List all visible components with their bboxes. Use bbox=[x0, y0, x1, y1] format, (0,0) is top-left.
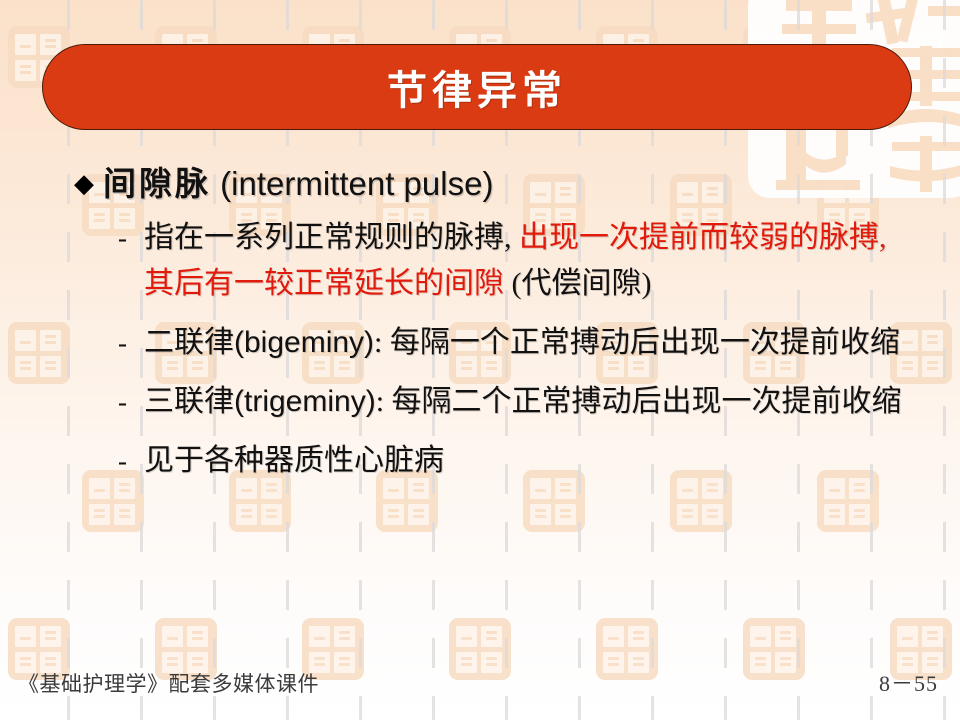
slide-content: ◆ 间隙脉 (intermittent pulse) -指在一系列正常规则的脉搏… bbox=[0, 160, 960, 497]
main-bullet: ◆ 间隙脉 (intermittent pulse) bbox=[0, 160, 960, 209]
sub-bullet-2: -二联律(bigeminy): 每隔一个正常搏动后出现一次提前收缩 bbox=[0, 320, 960, 366]
dash-bullet-icon: - bbox=[118, 215, 144, 261]
sub-bullet-text: 指在一系列正常规则的脉搏, 出现一次提前而较弱的脉搏, 其后有一较正常延长的间隙… bbox=[144, 215, 908, 307]
page-title: 节律异常 bbox=[387, 58, 567, 116]
main-bullet-en: (intermittent pulse) bbox=[211, 165, 493, 202]
slide-root: 节律异常 ◆ 间隙脉 (intermittent pulse) -指在一系列正常… bbox=[0, 0, 960, 720]
sub-bullet-text: 三联律(trigeminy): 每隔二个正常搏动后出现一次提前收缩 bbox=[144, 379, 902, 425]
main-bullet-text: 间隙脉 (intermittent pulse) bbox=[103, 160, 493, 209]
text-segment: 三联律 bbox=[144, 385, 234, 418]
text-segment: (trigeminy) bbox=[234, 385, 376, 418]
dash-bullet-icon: - bbox=[118, 438, 144, 484]
slide-footer: 《基础护理学》配套多媒体课件 8－55 bbox=[0, 666, 960, 698]
sub-bullet-3: -三联律(trigeminy): 每隔二个正常搏动后出现一次提前收缩 bbox=[0, 379, 960, 425]
text-segment: : 每隔二个正常搏动后出现一次提前收缩 bbox=[376, 385, 902, 418]
footer-source-label: 《基础护理学》配套多媒体课件 bbox=[18, 668, 319, 698]
dash-bullet-icon: - bbox=[118, 379, 144, 425]
main-bullet-zh: 间隙脉 bbox=[103, 164, 211, 203]
sub-bullet-1: -指在一系列正常规则的脉搏, 出现一次提前而较弱的脉搏, 其后有一较正常延长的间… bbox=[0, 215, 960, 307]
title-banner: 节律异常 bbox=[42, 44, 912, 130]
text-segment: (代偿间隙) bbox=[504, 267, 651, 300]
text-segment: 指在一系列正常规则的脉搏, bbox=[144, 221, 519, 254]
diamond-bullet-icon: ◆ bbox=[74, 160, 94, 208]
sub-bullet-text: 二联律(bigeminy): 每隔一个正常搏动后出现一次提前收缩 bbox=[144, 320, 900, 366]
dash-bullet-icon: - bbox=[118, 320, 144, 366]
text-segment: (bigeminy) bbox=[234, 326, 374, 359]
page-number: 8－55 bbox=[879, 666, 938, 698]
sub-bullet-list: -指在一系列正常规则的脉搏, 出现一次提前而较弱的脉搏, 其后有一较正常延长的间… bbox=[0, 215, 960, 484]
sub-bullet-text: 见于各种器质性心脏病 bbox=[144, 438, 444, 484]
text-segment: 二联律 bbox=[144, 326, 234, 359]
text-segment: 见于各种器质性心脏病 bbox=[144, 444, 444, 477]
text-segment: : 每隔一个正常搏动后出现一次提前收缩 bbox=[374, 326, 900, 359]
sub-bullet-4: -见于各种器质性心脏病 bbox=[0, 438, 960, 484]
